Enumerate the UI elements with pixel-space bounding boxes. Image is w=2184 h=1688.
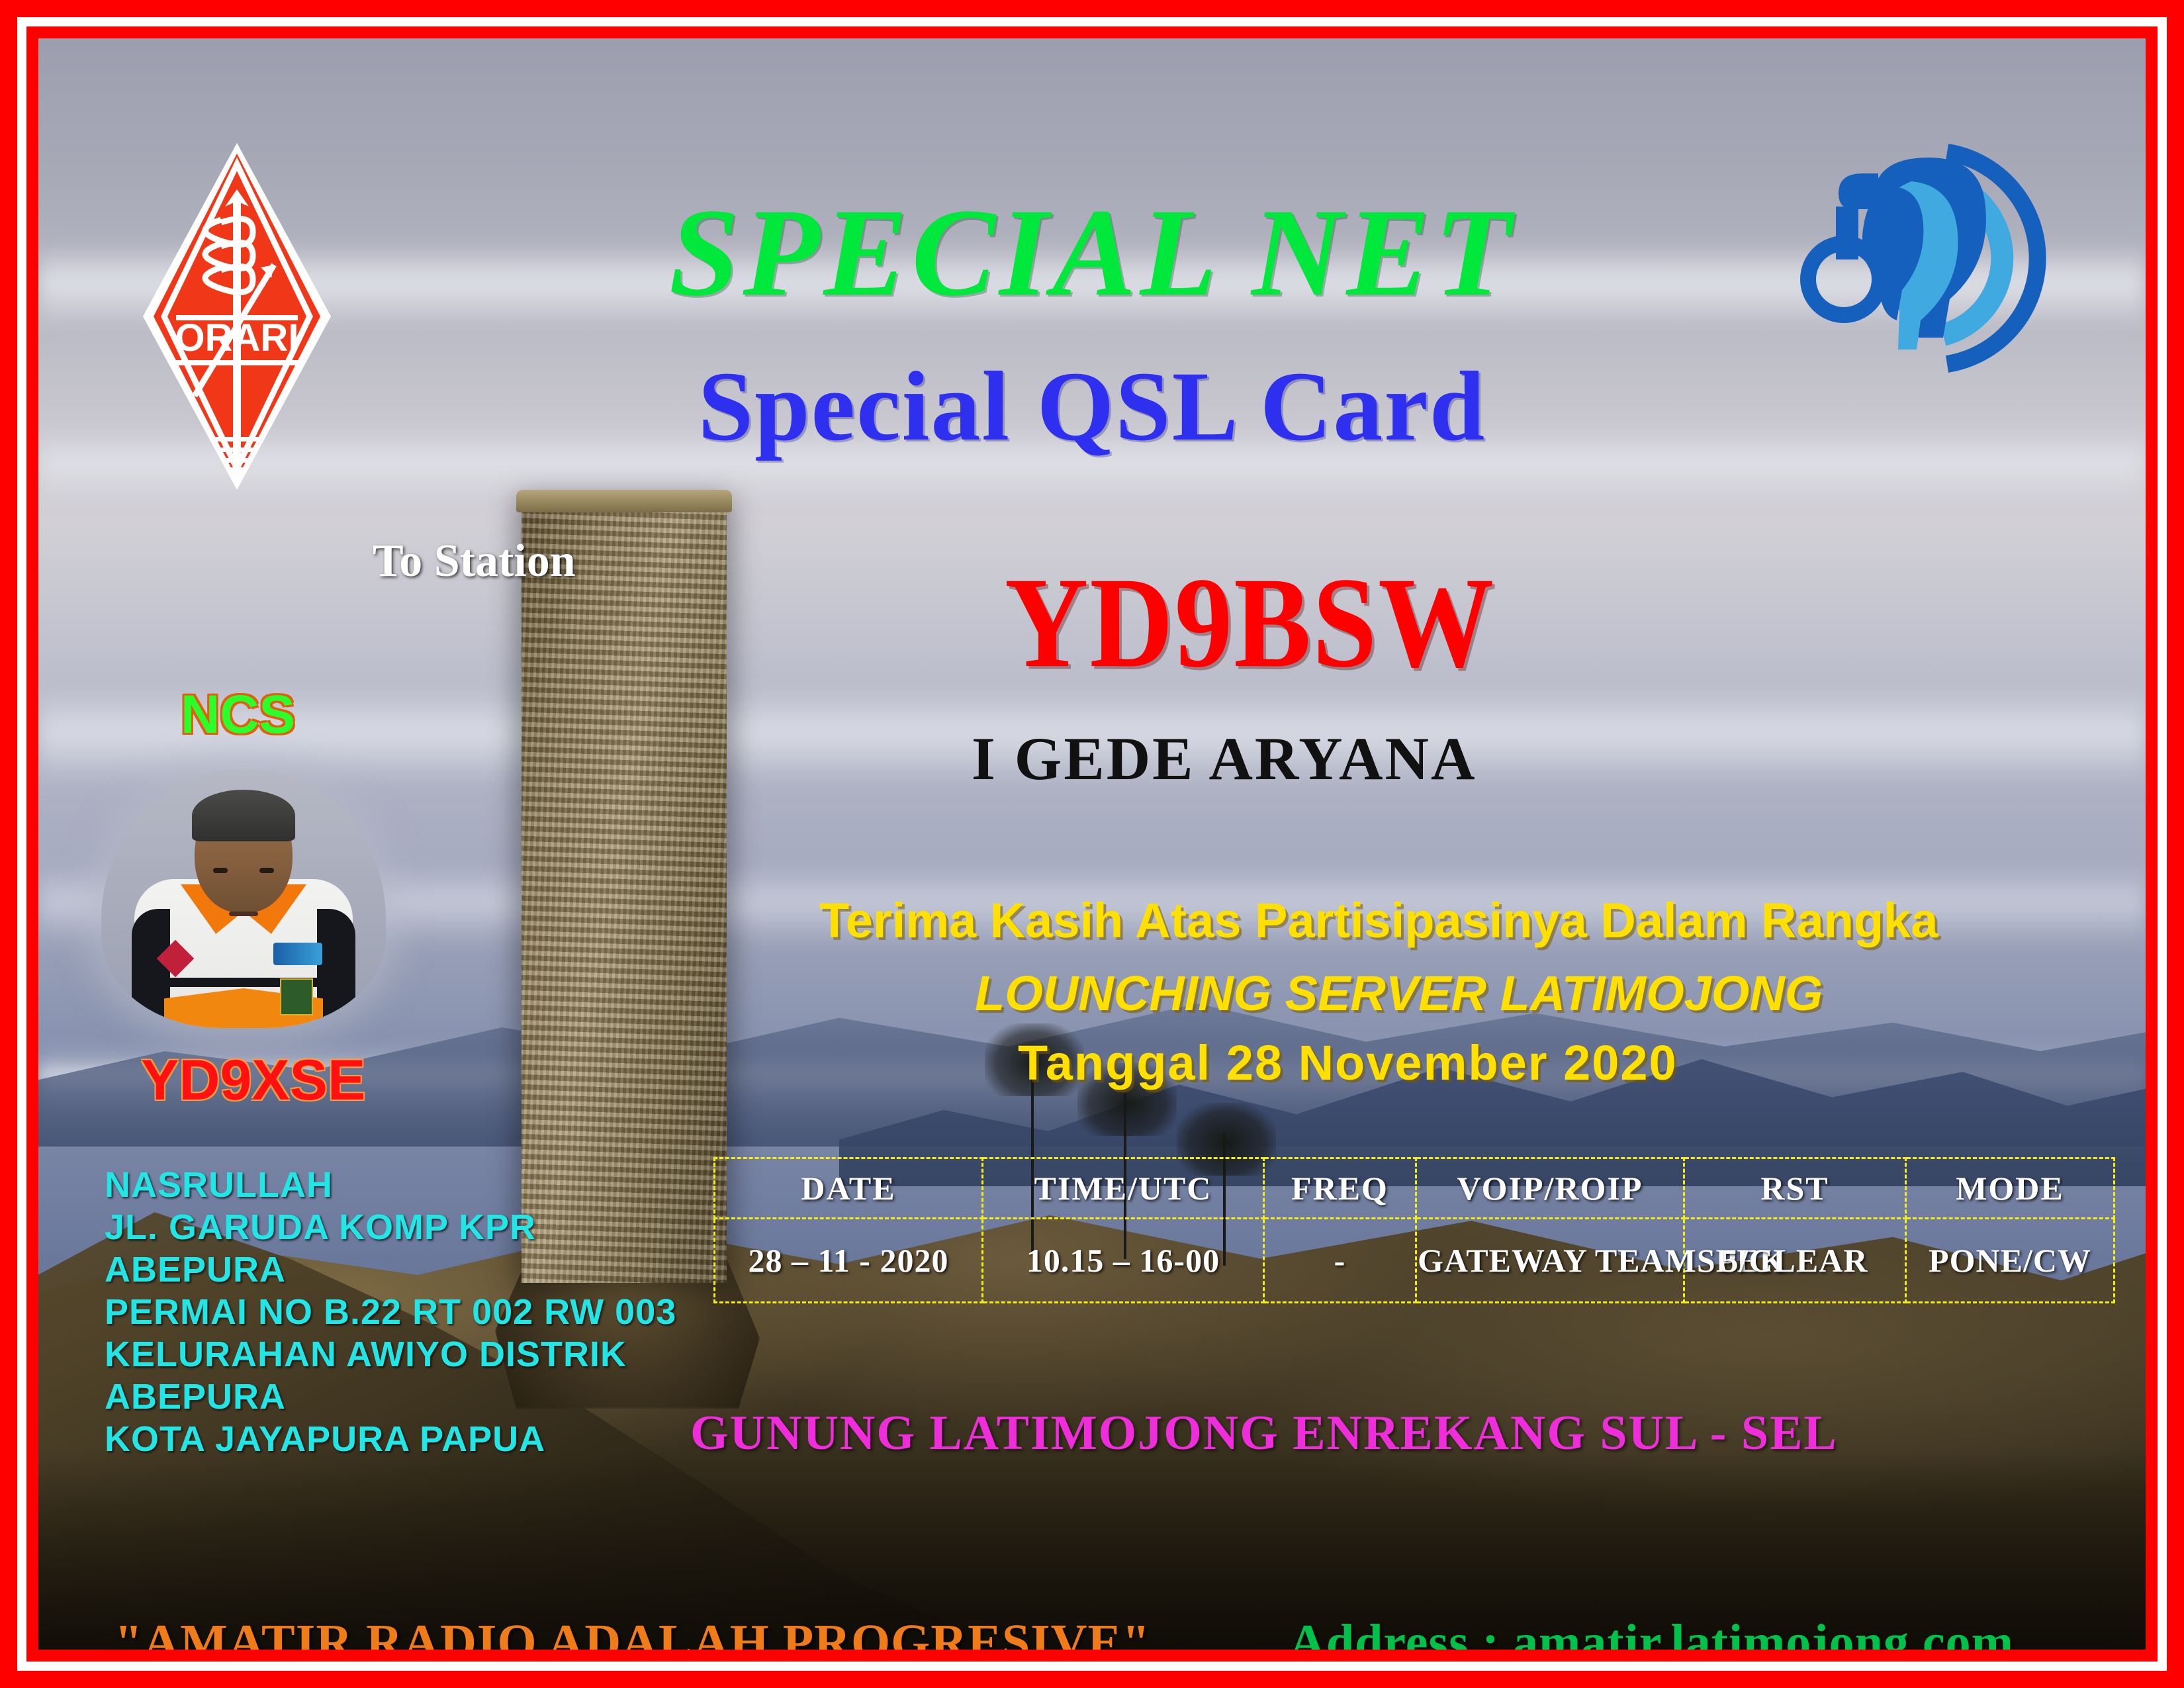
column-header-date: DATE (715, 1158, 983, 1219)
address-line: NASRULLAH (105, 1164, 676, 1206)
operator-name: I GEDE ARYANA (972, 724, 1477, 794)
to-station-label: To Station (373, 535, 576, 588)
page-title: SPECIAL NET (38, 181, 2146, 325)
footer-motto: "AMATIR RADIO ADALAH PROGRESIVE" (114, 1614, 1150, 1650)
id-card-icon (280, 978, 313, 1015)
address-line: JL. GARUDA KOMP KPR (105, 1206, 676, 1248)
column-header-mode: MODE (1906, 1158, 2115, 1219)
address-block: NASRULLAH JL. GARUDA KOMP KPR ABEPURA PE… (105, 1164, 676, 1460)
column-header-time: TIME/UTC (983, 1158, 1264, 1219)
column-header-rst: RST (1684, 1158, 1906, 1219)
ncs-label: NCS (181, 684, 295, 746)
cell-freq: - (1264, 1219, 1416, 1303)
location-text: GUNUNG LATIMOJONG ENREKANG SUL - SEL (690, 1405, 1838, 1462)
qsl-card: ORARI (0, 0, 2184, 1688)
card-photo-background: ORARI (38, 38, 2146, 1650)
thanks-line-1: Terima Kasih Atas Partisipasinya Dalam R… (819, 892, 1938, 949)
footer-website-address: Address : amatir.latimojong.com (1289, 1614, 2014, 1650)
column-header-voip: VOIP/ROIP (1416, 1158, 1684, 1219)
address-line: ABEPURA (105, 1248, 676, 1291)
card-inner-red-border: ORARI (26, 26, 2158, 1662)
table-row: 28 – 11 - 2020 10.15 – 16-00 - GATEWAY T… (715, 1219, 2115, 1303)
address-line: ABEPURA (105, 1376, 676, 1418)
column-header-freq: FREQ (1264, 1158, 1416, 1219)
qso-log-table: DATE TIME/UTC FREQ VOIP/ROIP RST MODE 28… (713, 1157, 2115, 1303)
ncs-callsign: YD9XSE (141, 1048, 365, 1113)
station-callsign: YD9BSW (1005, 548, 1495, 697)
cell-time: 10.15 – 16-00 (983, 1219, 1264, 1303)
portrait-mouth (229, 912, 258, 916)
cell-mode: PONE/CW (1906, 1219, 2115, 1303)
event-date: Tanggal 28 November 2020 (1018, 1035, 1678, 1091)
address-line: KELURAHAN AWIYO DISTRIK (105, 1333, 676, 1376)
ncs-operator-portrait (101, 770, 386, 1028)
portrait-eye-right (259, 868, 274, 873)
page-subtitle: Special QSL Card (38, 350, 2146, 463)
portrait-eye-left (213, 868, 228, 873)
event-name: LOUNCHING SERVER LATIMOJONG (975, 965, 1823, 1021)
portrait-hair (192, 790, 295, 841)
cell-voip: GATEWAY TEAMSPEK (1416, 1219, 1684, 1303)
table-header-row: DATE TIME/UTC FREQ VOIP/ROIP RST MODE (715, 1158, 2115, 1219)
uniform-badge-icon (273, 943, 322, 965)
address-line: KOTA JAYAPURA PAPUA (105, 1418, 676, 1460)
uniform-stripe (140, 978, 347, 987)
address-line: PERMAI NO B.22 RT 002 RW 003 (105, 1291, 676, 1333)
cell-date: 28 – 11 - 2020 (715, 1219, 983, 1303)
card-white-border: ORARI (17, 17, 2167, 1671)
